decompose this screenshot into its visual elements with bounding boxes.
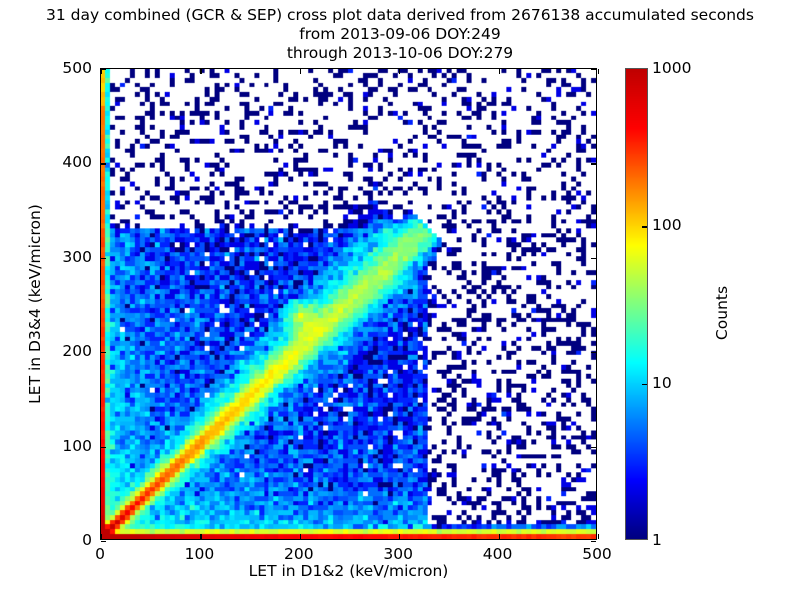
x-tick-mark — [399, 534, 400, 539]
x-tick-mark — [300, 534, 301, 539]
x-tick-mark-top — [499, 69, 500, 74]
y-tick-mark-right — [591, 352, 596, 353]
x-tick-mark-top — [200, 69, 201, 74]
x-tick-mark-top — [300, 69, 301, 74]
y-tick-mark-right — [591, 163, 596, 164]
plot-axes-frame — [100, 68, 597, 540]
colorbar — [625, 68, 648, 540]
y-tick-mark — [101, 447, 106, 448]
y-tick-label: 500 — [36, 59, 92, 77]
y-tick-label: 300 — [36, 248, 92, 266]
x-tick-mark-top — [399, 69, 400, 74]
x-axis-label: LET in D1&2 (keV/micron) — [100, 562, 597, 580]
colorbar-label: Counts — [713, 193, 731, 433]
colorbar-tick-label: 1000 — [652, 59, 691, 77]
x-tick-label: 200 — [284, 545, 314, 563]
x-tick-label: 100 — [185, 545, 215, 563]
x-tick-label: 400 — [483, 545, 513, 563]
x-tick-mark — [598, 534, 599, 539]
plot-title: 31 day combined (GCR & SEP) cross plot d… — [0, 6, 800, 63]
plot-title-line-1: 31 day combined (GCR & SEP) cross plot d… — [0, 6, 800, 25]
y-tick-label: 200 — [36, 342, 92, 360]
scatter-heatmap-canvas — [101, 69, 596, 539]
colorbar-gradient — [626, 69, 647, 539]
plot-title-line-2: from 2013-09-06 DOY:249 — [0, 25, 800, 44]
x-tick-label: 500 — [582, 545, 612, 563]
y-tick-label: 100 — [36, 437, 92, 455]
y-tick-mark — [101, 541, 106, 542]
colorbar-tick-mark — [642, 384, 647, 385]
y-tick-mark — [101, 258, 106, 259]
x-tick-mark — [200, 534, 201, 539]
x-tick-mark — [101, 534, 102, 539]
y-tick-mark-right — [591, 541, 596, 542]
y-tick-mark-right — [591, 69, 596, 70]
y-tick-mark — [101, 352, 106, 353]
x-tick-mark-top — [598, 69, 599, 74]
figure-canvas: 31 day combined (GCR & SEP) cross plot d… — [0, 0, 800, 600]
x-tick-mark — [499, 534, 500, 539]
x-tick-label: 300 — [383, 545, 413, 563]
colorbar-tick-mark — [642, 226, 647, 227]
y-tick-label: 400 — [36, 153, 92, 171]
x-tick-label: 0 — [95, 545, 105, 563]
y-tick-mark — [101, 163, 106, 164]
y-tick-mark — [101, 69, 106, 70]
colorbar-tick-label: 1 — [652, 531, 662, 549]
y-tick-label: 0 — [36, 531, 92, 549]
colorbar-tick-label: 100 — [652, 216, 682, 234]
y-tick-mark-right — [591, 447, 596, 448]
y-tick-mark-right — [591, 258, 596, 259]
colorbar-tick-label: 10 — [652, 374, 672, 392]
y-axis-label: LET in D3&4 (keV/micron) — [26, 104, 44, 504]
